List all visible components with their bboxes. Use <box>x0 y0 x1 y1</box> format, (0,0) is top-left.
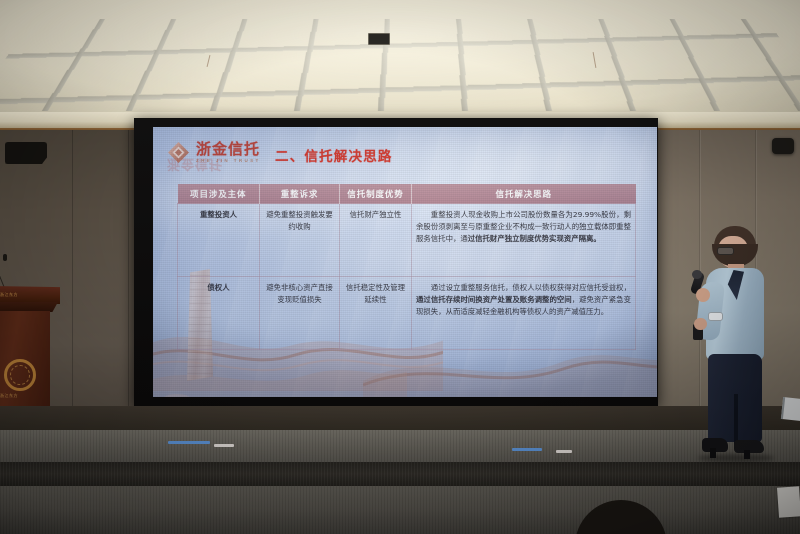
ceiling-vignette <box>0 0 800 118</box>
ceiling-vent-icon <box>368 33 390 45</box>
column-header-solution: 信托解决思路 <box>412 184 636 204</box>
slide-content: 浙金信托 ZHE JIN TRUST 浙金信托 二、信托解决思路 项目涉及主体 … <box>153 127 657 397</box>
logo-reflection: 浙金信托 <box>167 165 277 175</box>
floor-tape-marker <box>556 450 572 453</box>
cell-advantage: 信托财产独立性 <box>340 204 412 277</box>
cell-solution: 通过设立重整服务信托，债权人以债权获得对应信托受益权，通过信托存续时间换资产处置… <box>412 277 636 350</box>
cell-subject: 债权人 <box>178 277 260 350</box>
microphone-head-icon <box>3 254 7 261</box>
podium-top-text: 浙江东方 <box>0 292 18 298</box>
presentation-screen: 浙金信托 ZHE JIN TRUST 浙金信托 二、信托解决思路 项目涉及主体 … <box>153 127 657 397</box>
slide-title: 二、信托解决思路 <box>275 145 393 165</box>
cell-need: 避免非核心资产直接变现贬值损失 <box>260 277 340 350</box>
logo-chinese-name: 浙金信托 <box>196 142 261 157</box>
column-header-advantage: 信托制度优势 <box>340 184 412 204</box>
solution-text-bold: 过信托财产独立制度优势实现资产隔离。 <box>468 234 601 243</box>
presenter-hand <box>694 318 707 330</box>
table-row: 债权人 避免非核心资产直接变现贬值损失 信托稳定性及管理延续性 通过设立重整服务… <box>178 277 636 350</box>
floor-tape-marker <box>214 444 234 447</box>
floor-carpet <box>0 486 800 534</box>
paper-sheet <box>777 486 800 517</box>
floor-tape-marker <box>168 441 210 444</box>
podium-bottom-text: 浙江东方 <box>0 393 18 399</box>
cell-need: 避免重整投资触发要约收购 <box>260 204 340 277</box>
conference-room-scene: 浙江东方 浙江东方 <box>0 0 800 534</box>
presenter-hand <box>696 288 710 302</box>
wall-speaker-icon <box>772 138 794 154</box>
presenter <box>690 226 788 468</box>
cell-solution: 重整投资人现金收购上市公司股份数量各为29.99%股份，剩余股份须剥离至与原重整… <box>412 204 636 277</box>
table-header-row: 项目涉及主体 重整诉求 信托制度优势 信托解决思路 <box>178 184 636 204</box>
floor-tape-marker <box>512 448 542 451</box>
podium-emblem-icon <box>4 359 36 391</box>
cell-advantage: 信托稳定性及管理延续性 <box>340 277 412 350</box>
wristwatch-icon <box>708 312 723 321</box>
solution-text-plain: 通过设立重整服务信托，债权人以债权获得对应信托受益权， <box>431 283 631 292</box>
wall-speaker-icon <box>5 142 47 164</box>
solution-text-bold: 通过信托存续时间换资产处置及账务调整的空间 <box>416 295 572 304</box>
ceiling-light-panels <box>0 0 800 118</box>
lower-back-wall <box>0 406 800 432</box>
eyeglasses-icon <box>717 247 734 255</box>
stage-riser-edge <box>0 462 800 488</box>
solution-table: 项目涉及主体 重整诉求 信托制度优势 信托解决思路 重整投资人 避免重整投资触发… <box>177 184 636 350</box>
column-header-subject: 项目涉及主体 <box>178 184 260 204</box>
column-header-need: 重整诉求 <box>260 184 340 204</box>
table-row: 重整投资人 避免重整投资触发要约收购 信托财产独立性 重整投资人现金收购上市公司… <box>178 204 636 277</box>
cell-subject: 重整投资人 <box>178 204 260 277</box>
